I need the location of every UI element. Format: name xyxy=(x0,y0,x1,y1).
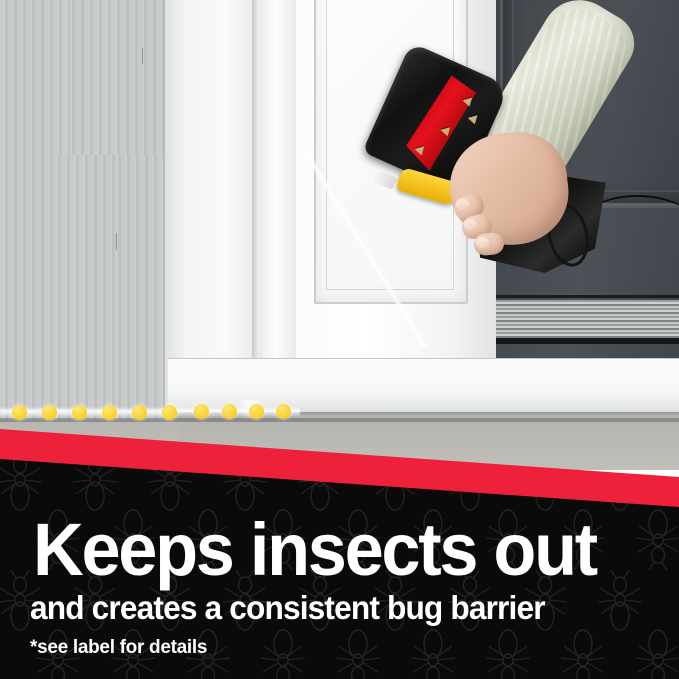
footnote: *see label for details xyxy=(30,638,207,657)
headline: Keeps insects out xyxy=(33,513,596,587)
promo-banner: Keeps insects out and creates a consiste… xyxy=(0,0,679,679)
marketing-copy: Keeps insects out and creates a consiste… xyxy=(0,0,679,679)
subheadline: and creates a consistent bug barrier xyxy=(30,591,545,624)
